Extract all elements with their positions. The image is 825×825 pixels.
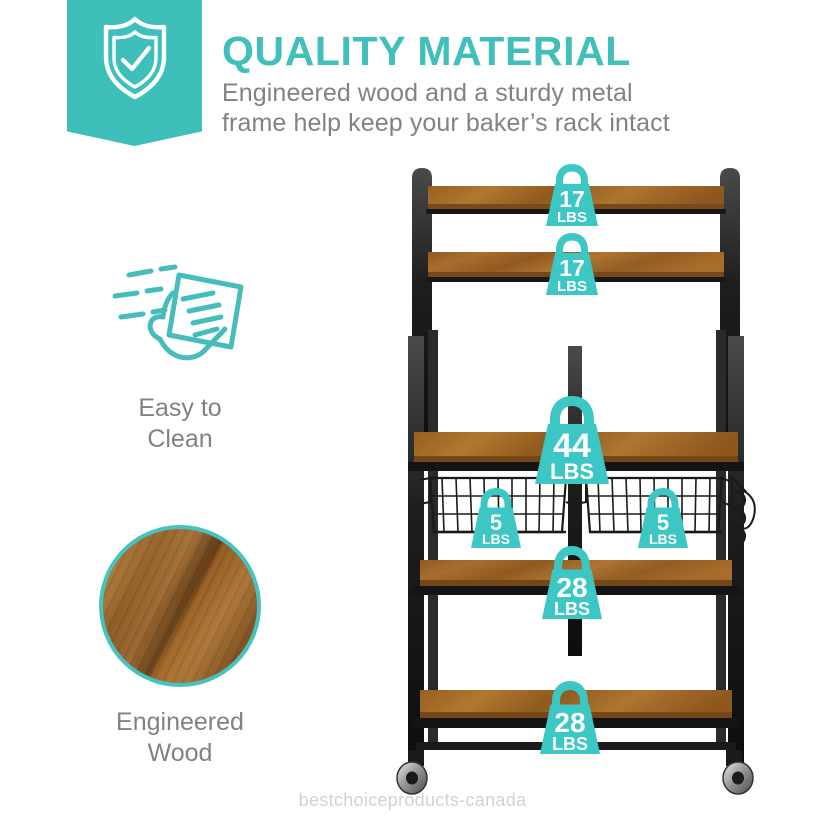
hand-wiping-cloth-icon — [105, 259, 255, 371]
badge-unit: LBS — [557, 278, 587, 295]
header-text-block: QUALITY MATERIAL Engineered wood and a s… — [222, 28, 742, 138]
weight-badge-lower-shelf: 28 LBS — [537, 544, 607, 622]
frame-right-rear-post — [716, 330, 726, 750]
weight-badge-work-surface: 44 LBS — [529, 393, 615, 487]
weight-badge-hutch-top: 17 LBS — [542, 162, 602, 228]
wood-grain-swatch — [99, 525, 261, 687]
badge-unit: LBS — [550, 459, 594, 484]
weight-badge-bottom-shelf: 28 LBS — [535, 679, 605, 757]
feature-easy-to-clean: Easy to Clean — [60, 255, 300, 455]
page-title: QUALITY MATERIAL — [222, 28, 742, 74]
feature-engineered-wood: Engineered Wood — [60, 525, 300, 769]
weight-badge-basket-right: 5 LBS — [634, 486, 692, 550]
caster-wheel-left — [397, 750, 427, 794]
shield-check-icon — [98, 15, 172, 101]
header-subtitle: Engineered wood and a sturdy metal frame… — [222, 78, 742, 138]
badge-unit: LBS — [649, 531, 677, 547]
weight-badge-hutch-second: 17 LBS — [542, 231, 602, 297]
feature-label-engineered-wood: Engineered Wood — [60, 707, 300, 769]
badge-unit: LBS — [552, 734, 588, 754]
caster-wheel-right — [723, 750, 753, 794]
header-subtitle-line-1: Engineered wood and a sturdy metal — [222, 78, 742, 108]
infographic-canvas: QUALITY MATERIAL Engineered wood and a s… — [0, 0, 825, 825]
badge-unit: LBS — [482, 531, 510, 547]
feature-icon-wrap — [60, 255, 300, 375]
header-subtitle-line-2: frame help keep your baker’s rack intact — [222, 108, 742, 138]
feature-label-easy-to-clean: Easy to Clean — [60, 393, 300, 455]
badge-unit: LBS — [554, 599, 590, 619]
watermark: bestchoiceproducts-canada — [0, 790, 825, 811]
badge-unit: LBS — [557, 209, 587, 226]
frame-left-rear-post — [428, 330, 438, 750]
weight-badge-basket-left: 5 LBS — [467, 486, 525, 550]
quality-banner — [67, 0, 202, 146]
